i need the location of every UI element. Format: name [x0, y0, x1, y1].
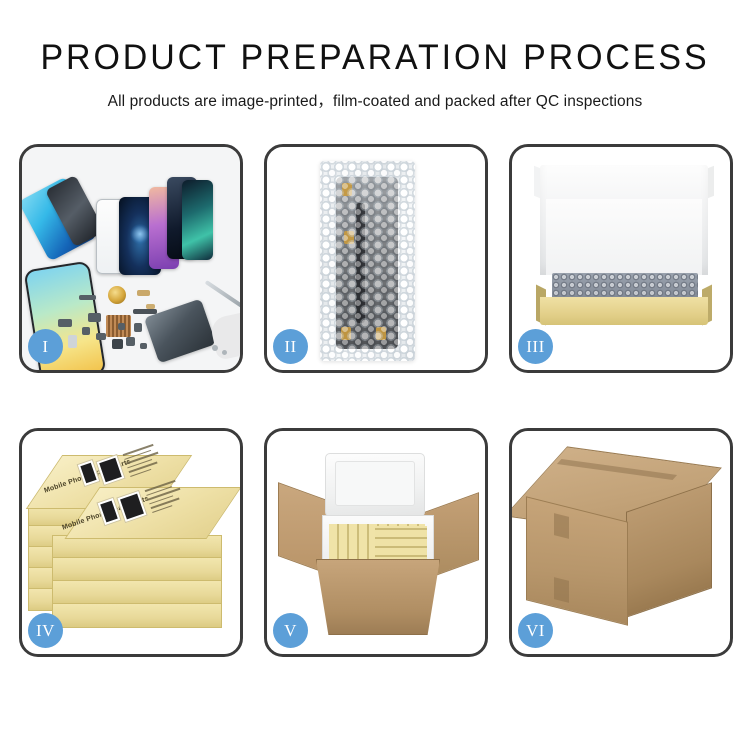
- step-badge-1: I: [28, 329, 63, 364]
- step-panel-3: III: [509, 144, 733, 373]
- part-dot: [58, 319, 72, 327]
- step-panel-2: II: [264, 144, 488, 373]
- stacked-box: [52, 557, 222, 582]
- carton-body-icon: [316, 559, 440, 635]
- part-dot: [118, 323, 125, 330]
- part-dot: [126, 337, 135, 346]
- step-badge-3: III: [518, 329, 553, 364]
- header: PRODUCT PREPARATION PROCESS All products…: [0, 0, 750, 111]
- step-badge-2: II: [273, 329, 308, 364]
- part-dot: [134, 323, 142, 332]
- stacked-box: [52, 603, 222, 628]
- page-title: PRODUCT PREPARATION PROCESS: [11, 38, 739, 78]
- stacked-box: [52, 580, 222, 605]
- page-subtitle: All products are image-printed，film-coat…: [0, 89, 750, 111]
- part-dot: [79, 295, 96, 300]
- carton-tape-icon: [554, 577, 569, 603]
- step-panel-1: I: [19, 144, 243, 373]
- tweezers-icon: [205, 280, 240, 308]
- foam-lid-icon: [325, 453, 425, 517]
- part-dot: [88, 313, 101, 322]
- bubble-wrap-bag-icon: [320, 161, 415, 361]
- part-dot: [82, 327, 90, 335]
- yellow-box-front-icon: [540, 297, 708, 325]
- part-dot: [68, 335, 77, 348]
- step-badge-4: IV: [28, 613, 63, 648]
- step-panel-5: V: [264, 428, 488, 657]
- screw-icon: [212, 345, 218, 351]
- part-dot: [112, 339, 123, 349]
- step-panel-4: Mobile Phone Spare Parts Mobile Phone Sp…: [19, 428, 243, 657]
- steps-grid: I II: [19, 144, 733, 657]
- part-dot: [140, 343, 147, 349]
- carton-tape-icon: [554, 513, 569, 539]
- part-dot: [137, 290, 150, 296]
- phone-teal-icon: [182, 180, 213, 260]
- flex-cable-icon: [133, 309, 157, 314]
- screw-icon: [222, 350, 227, 355]
- foam-liner-icon: [546, 199, 702, 275]
- part-dot: [96, 333, 106, 340]
- yellow-boxes-stack: [375, 526, 427, 564]
- bubble-texture-overlay: [320, 161, 415, 361]
- step-panel-6: VI: [509, 428, 733, 657]
- product-preparation-infographic: PRODUCT PREPARATION PROCESS All products…: [0, 0, 750, 750]
- step-badge-6: VI: [518, 613, 553, 648]
- speaker-coil-icon: [108, 286, 126, 304]
- step-badge-5: V: [273, 613, 308, 648]
